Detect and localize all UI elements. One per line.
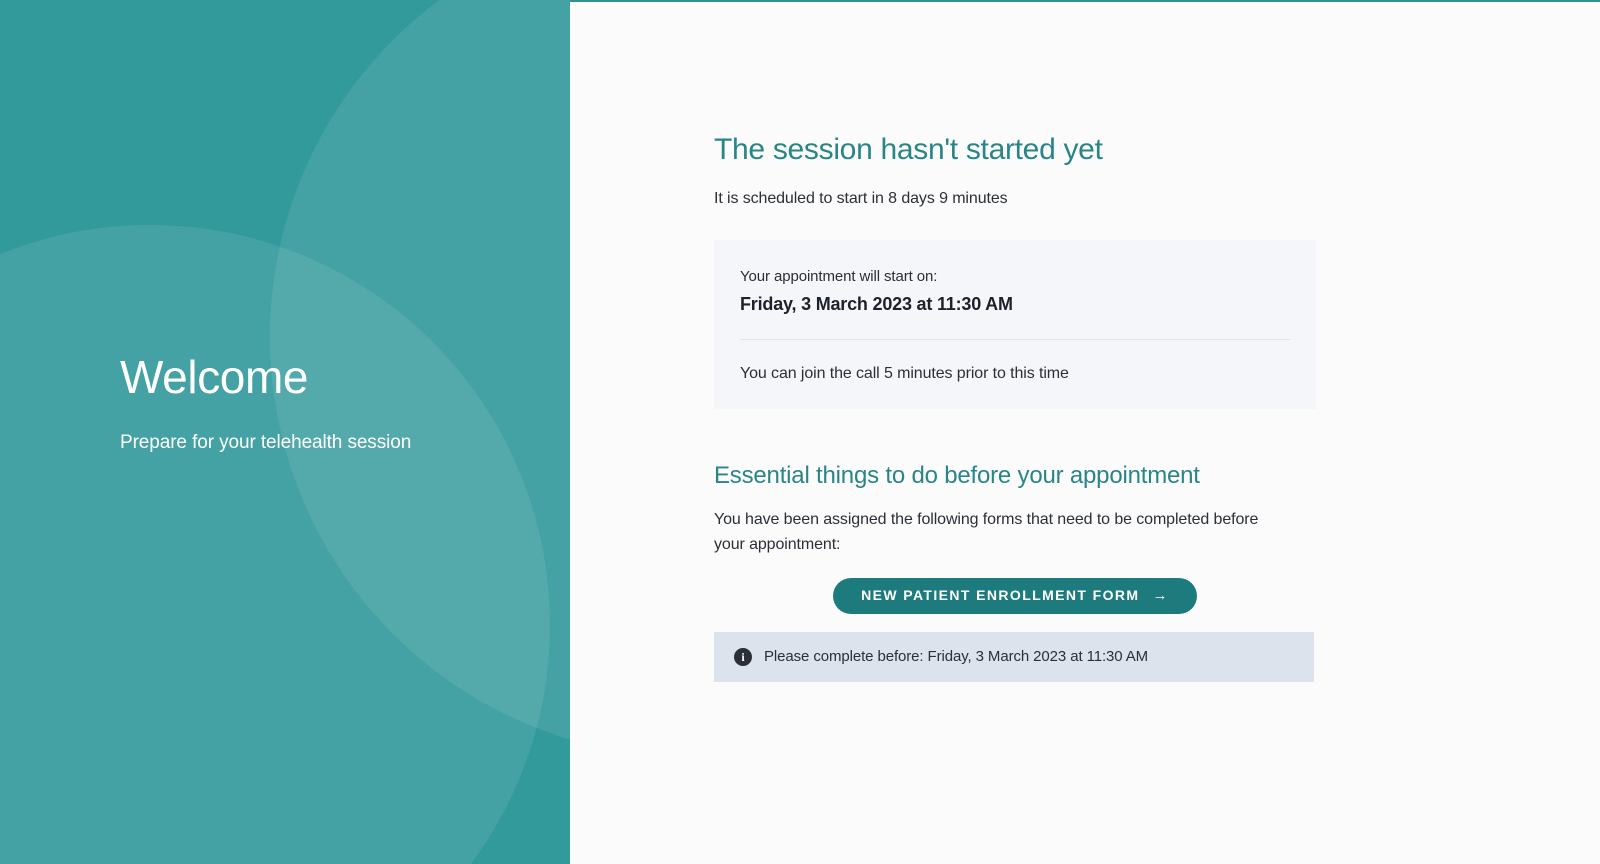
essential-section-title: Essential things to do before your appoi… [714,462,1316,490]
session-countdown-text: It is scheduled to start in 8 days 9 min… [714,190,1316,208]
deadline-info-banner: i Please complete before: Friday, 3 Marc… [714,632,1314,682]
appointment-label: Your appointment will start on: [740,268,1290,285]
deadline-text: Please complete before: Friday, 3 March … [764,648,1148,665]
main-content-panel: The session hasn't started yet It is sch… [570,0,1600,864]
new-patient-enrollment-form-button[interactable]: New patient enrollment form → [833,578,1197,614]
page-title: The session hasn't started yet [714,132,1316,168]
welcome-subtitle: Prepare for your telehealth session [120,432,540,454]
session-details: The session hasn't started yet It is sch… [714,132,1316,682]
appointment-card: Your appointment will start on: Friday, … [714,240,1316,409]
arrow-right-icon: → [1152,588,1168,603]
welcome-title: Welcome [120,352,540,403]
info-icon: i [734,648,752,666]
essential-description: You have been assigned the following for… [714,508,1270,558]
card-divider [740,339,1290,340]
welcome-content: Welcome Prepare for your telehealth sess… [120,352,540,454]
small-circle-decoration-icon [0,225,550,864]
cta-row: New patient enrollment form → [714,578,1316,614]
join-window-note: You can join the call 5 minutes prior to… [740,365,1290,383]
appointment-datetime: Friday, 3 March 2023 at 11:30 AM [740,294,1290,315]
welcome-panel: Welcome Prepare for your telehealth sess… [0,0,570,864]
cta-label: New patient enrollment form [861,588,1139,602]
